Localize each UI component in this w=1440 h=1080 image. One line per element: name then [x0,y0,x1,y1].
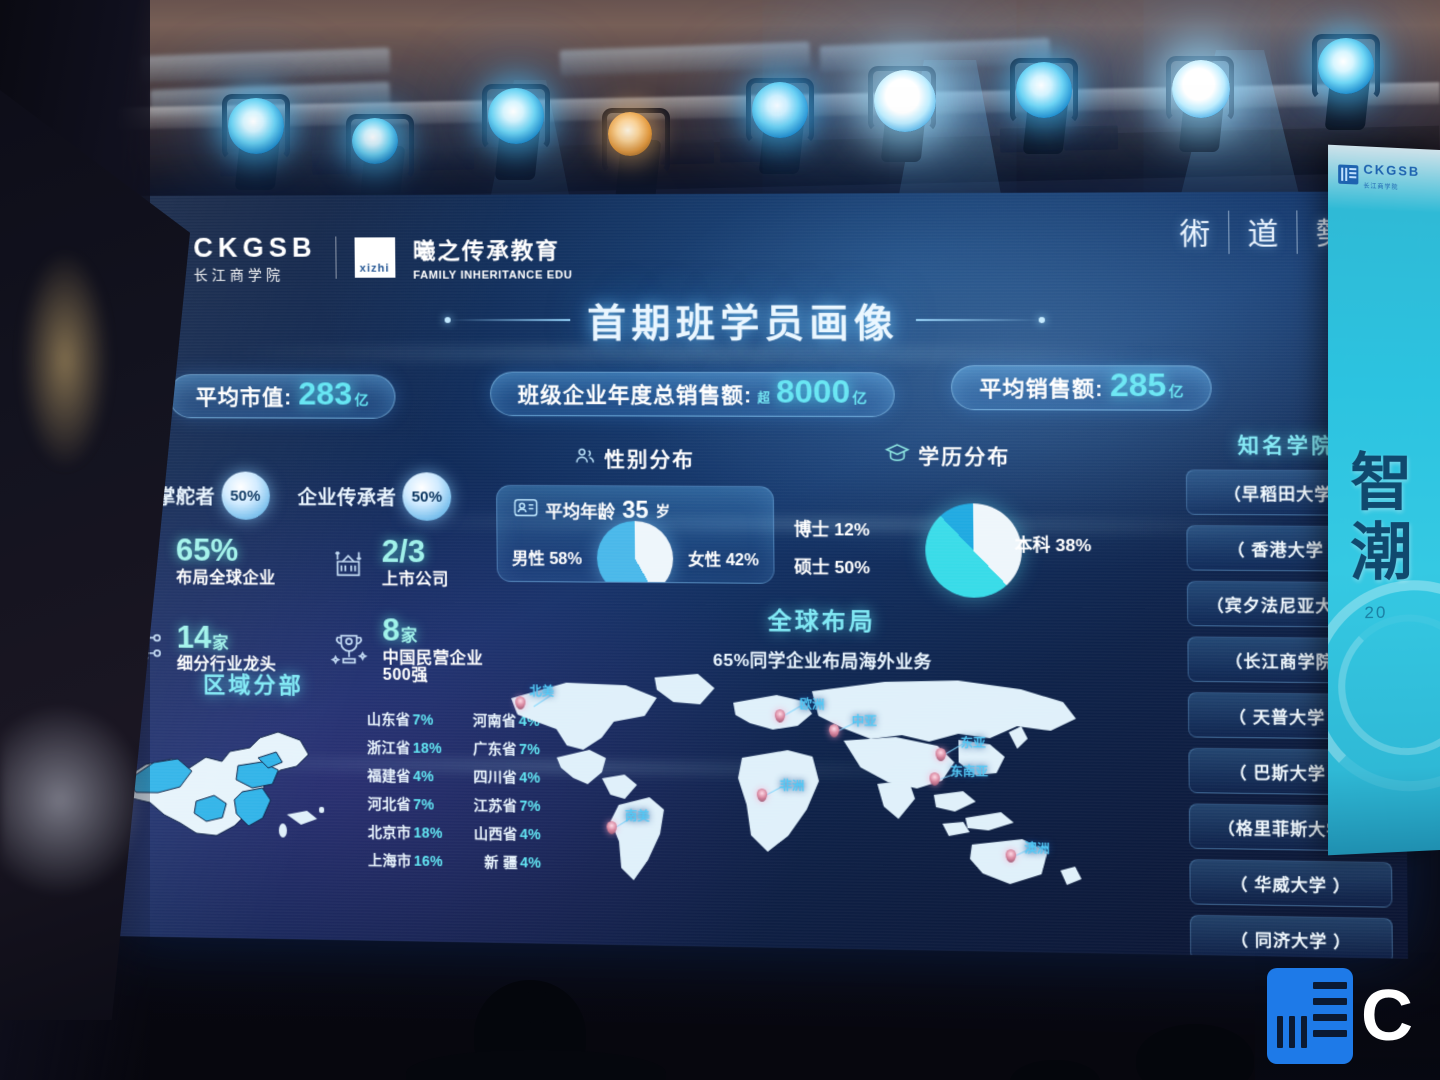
avg-age-row: 平均年龄 35 岁 [497,486,773,525]
kpi-value: 8000 [776,373,850,411]
trophy-icon [326,626,373,673]
map-label-europe: 欧洲 [800,695,825,713]
kpi-unit: 亿 [1168,381,1183,402]
fact-text: 2/3 上市公司 [381,536,449,589]
gender-section-head: 性别分布 [496,443,774,474]
gender-card: 平均年龄 35 岁 男性 58% 女性 42% [496,485,775,584]
region-section-title: 区域分部 [203,667,304,700]
banner-logo: CKGSB 长江商学院 [1338,159,1440,193]
map-label-africa: 非洲 [779,777,804,795]
sail-warm-glow [20,250,110,470]
banner-logo-cn: 长江商学院 [1363,181,1420,192]
role-label: 企业传承者 [298,482,397,510]
bottom-logo-plate: C [1255,952,1440,1080]
global-title: 全球布局 [543,599,1105,638]
map-label-central-asia: 中亚 [852,712,877,730]
stage-photo: CKGSB 长江商学院 xizhi 曦之传承教育 FAMILY INHERITA… [0,0,1440,1080]
id-card-icon [513,498,538,522]
legend-bachelor: 本科 38% [1015,530,1092,556]
avg-age-label: 平均年龄 [545,497,615,523]
fact-listed-company: 2/3 上市公司 [325,535,508,589]
education-section-head: 学历分布 [791,440,1105,471]
fact-row: 65% 布局全球企业 2/3 上 [120,534,525,589]
banner-year: 20 [1364,603,1387,624]
role-split-row: 企业掌舵者 50% 企业传承者 50% [117,471,522,521]
kpi-unit: 亿 [354,389,368,409]
ckgsb-logo-icon [1267,968,1353,1064]
role-successor: 企业传承者 50% [297,472,451,521]
banner-wordmark: CKGSB 长江商学院 [1363,161,1420,193]
education-pie-chart [925,503,1022,598]
side-banner: CKGSB 长江商学院 智 潮 20 [1328,145,1440,856]
map-label-south-america: 南美 [625,807,650,825]
screen-logo-row: CKGSB 长江商学院 xizhi 曦之传承教育 FAMILY INHERITA… [131,233,572,282]
kpi-value: 285 [1110,366,1167,404]
fact-value: 2/3 [381,534,425,570]
avg-age-value: 35 [622,497,649,525]
fact-value: 8家 [382,613,417,649]
kpi-prefix: 超 [757,389,770,406]
calligraphy-char-1: 術 [1166,211,1228,254]
education-body: 博士 12% 硕士 50% 本科 38% [791,488,1106,613]
audience-hair-bun [520,990,554,1024]
kpi-label: 平均市值: [195,381,292,411]
fact-text: 8家 中国民营企业500强 [382,615,509,686]
fact-caption: 上市公司 [382,571,449,588]
education-section: 学历分布 博士 12% 硕士 50% 本科 38% [791,440,1107,613]
province-cell: 山东省7% [367,709,434,730]
kpi-unit: 亿 [852,387,867,407]
banner-logo-en: CKGSB [1363,162,1420,180]
ckgsb-cn: 长江商学院 [193,267,317,281]
title-rule-right [915,318,1039,320]
graduation-cap-icon [885,442,910,470]
kpi-avg-sales: 平均销售额: 285 亿 [951,365,1212,411]
audience-head [1136,1024,1254,1080]
map-label-north-america: 北美 [529,682,554,699]
legend-female: 女性 42% [688,546,759,571]
xizhi-logo-icon: xizhi [354,237,395,277]
education-legend-left: 博士 12% 硕士 50% [794,515,870,591]
xizhi-cn: 曦之传承教育 [413,233,573,266]
map-label-oceania: 澳洲 [1024,839,1049,857]
title-rule-left [450,318,571,320]
global-section: 全球布局 65%同学企业布局海外业务 [543,599,1105,674]
xizhi-en: FAMILY INHERITANCE EDU [413,269,572,281]
legend-male: 男性 58% [512,545,582,570]
kpi-label: 班级企业年度总销售额: [518,379,753,410]
xizhi-wordmark: 曦之传承教育 FAMILY INHERITANCE EDU [413,233,573,282]
logo-divider [335,236,336,278]
kpi-label: 平均销售额: [979,372,1103,403]
sail-star-glow [0,700,150,900]
kpi-market-value: 平均市值: 283 亿 [168,374,396,419]
kpi-total-sales: 班级企业年度总销售额: 超 8000 亿 [490,372,895,418]
fact-caption: 中国民营企业500强 [382,650,509,685]
role-percent-bubble: 50% [221,471,270,519]
fact-value: 65% [176,532,239,568]
role-percent-bubble: 50% [402,472,451,521]
province-cell: 北京市18% [368,822,443,843]
audience-shoulders [406,1050,666,1080]
gender-section: 性别分布 平均年龄 35 岁 男性 [496,443,775,584]
fact-text: 65% 布局全球企业 [176,534,276,587]
banner-calligraphy: 智 潮 [1350,449,1412,590]
province-cell: 福建省4% [367,765,434,786]
audience-head [1010,1060,1100,1080]
fact-row: 14家 细分行业龙头 8家 中国 [120,612,525,685]
education-title: 学历分布 [918,441,1010,471]
led-screen: CKGSB 长江商学院 xizhi 曦之传承教育 FAMILY INHERITA… [105,191,1408,958]
avg-age-unit: 岁 [656,500,671,520]
gender-legend: 男性 58% 女性 42% [498,544,774,570]
ckgsb-en: CKGSB [193,234,317,261]
province-cell: 上海市16% [368,850,443,871]
ckgsb-logo-icon [1338,164,1358,184]
page-title: 首期班学员画像 [587,291,899,347]
legend-doctor: 博士 12% [794,515,870,541]
building-arrows-icon [325,539,372,586]
map-label-east-asia: 东亚 [960,734,985,752]
kpi-value: 283 [298,375,352,412]
ckgsb-wordmark: CKGSB 长江商学院 [193,234,317,281]
world-map: 北美 欧洲 中亚 东亚 东南亚 非洲 南美 澳洲 [503,670,1097,897]
legend-master: 硕士 50% [794,552,870,578]
school-item: （ 华威大学 ） [1189,859,1392,908]
people-icon [573,444,596,472]
province-cell: 河北省7% [368,793,435,814]
calligraphy-char-2: 道 [1228,210,1297,254]
fact-grid: 65% 布局全球企业 2/3 上 [120,534,526,712]
gender-title: 性别分布 [604,444,695,474]
fact-value: 14家 [177,619,229,655]
bottom-logo-letter: C [1361,980,1413,1052]
province-cell: 浙江省18% [367,737,442,758]
map-label-southeast-asia: 东南亚 [950,762,988,780]
slide-title-row: 首期班学员画像 [106,291,1403,348]
fact-caption: 布局全球企业 [176,570,276,588]
fact-top500: 8家 中国民营企业500强 [325,614,509,685]
